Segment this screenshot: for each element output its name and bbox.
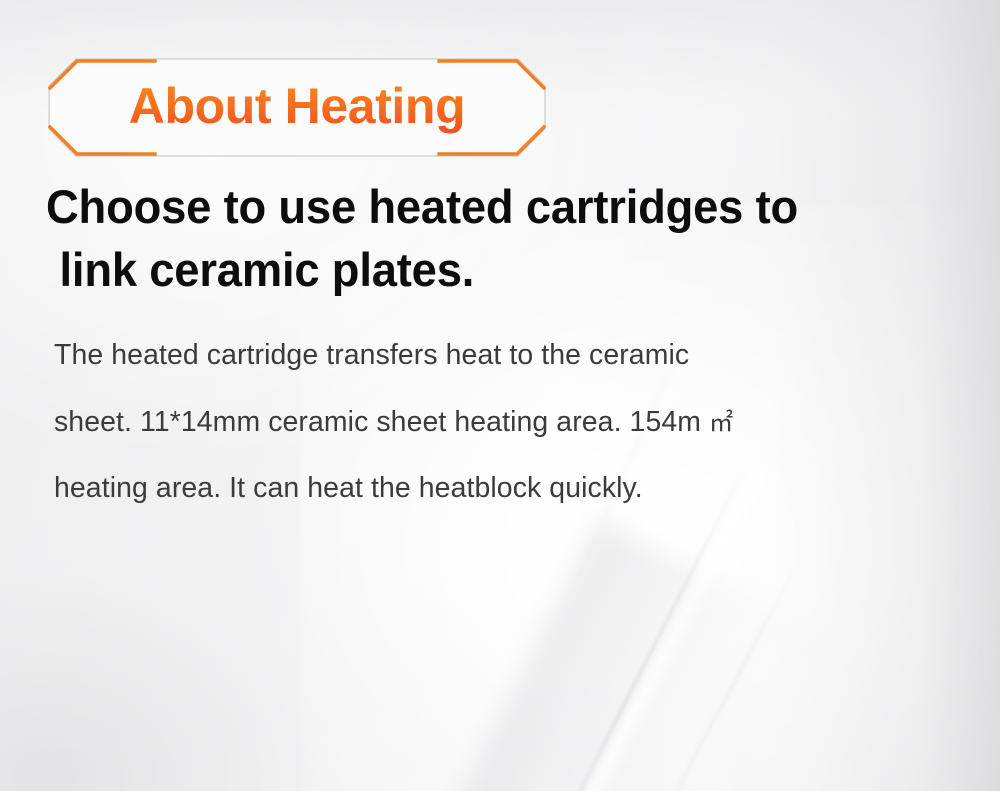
page-title-line-1: Choose to use heated cartridges to [46,176,953,239]
page-title-line-2: link ceramic plates. [46,239,953,302]
description-line-1: The heated cartridge transfers heat to t… [54,322,965,389]
description-line-2-text: sheet. 11*14mm ceramic sheet heating are… [54,406,709,438]
badge-title: About Heating [48,58,546,157]
page-title: Choose to use heated cartridges to link … [46,176,953,301]
description-paragraph: The heated cartridge transfers heat to t… [54,322,965,522]
description-line-3: heating area. It can heat the heatblock … [54,455,965,522]
square-meter-unit: ㎡ [709,410,733,437]
section-badge: About Heating [48,58,546,157]
about-heating-banner: About Heating Choose to use heated cartr… [0,0,1000,791]
description-line-2: sheet. 11*14mm ceramic sheet heating are… [54,389,965,456]
